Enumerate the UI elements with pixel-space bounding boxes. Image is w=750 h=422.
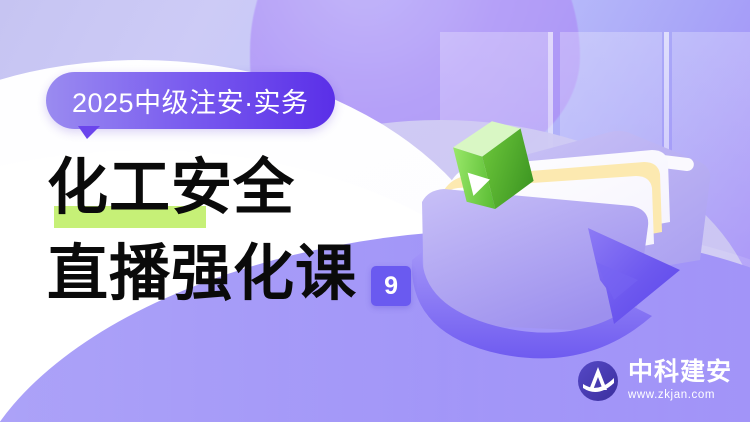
headline-line-2-row: 直播强化课 9: [47, 234, 411, 312]
brand-logo[interactable]: 中科建安 www.zkjan.com: [577, 360, 732, 402]
brand-name: 中科建安: [628, 360, 732, 385]
brand-text-block: 中科建安 www.zkjan.com: [628, 360, 732, 402]
headline-line-2: 直播强化课: [47, 243, 357, 304]
brand-mark-icon: [577, 360, 619, 402]
episode-number-badge: 9: [371, 266, 411, 306]
headline-line-1: 化工安全: [47, 157, 295, 218]
headline-block: 化工安全 直播强化课 9: [47, 148, 411, 312]
badge-speech-tail: [78, 126, 100, 139]
headline-line-1-row: 化工安全: [47, 148, 411, 226]
folder-illustration-svg: [400, 110, 750, 360]
course-category-badge: 2025中级注安·实务: [46, 72, 335, 129]
course-category-label: 2025中级注安·实务: [72, 81, 309, 120]
brand-url: www.zkjan.com: [628, 390, 732, 402]
folder-illustration: [400, 110, 750, 360]
course-promo-banner: 2025中级注安·实务 化工安全 直播强化课 9 中科建安: [0, 0, 750, 422]
